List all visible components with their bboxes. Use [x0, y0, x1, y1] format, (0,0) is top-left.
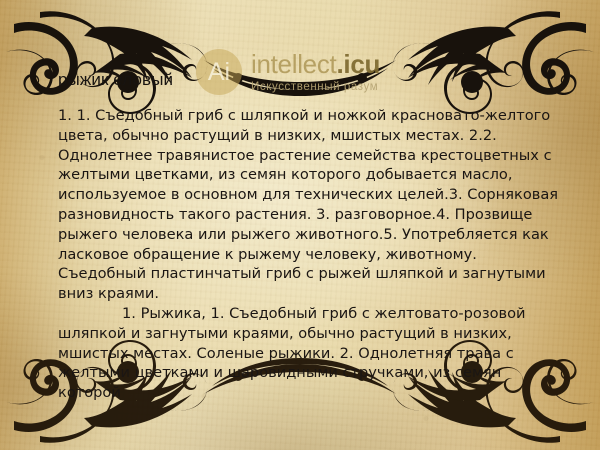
watermark-brand-prefix: intellect	[251, 49, 336, 79]
body-paragraph: 1. 1. Съедобный гриб с шляпкой и ножкой …	[58, 106, 564, 264]
watermark-tagline: Искусственный разум	[251, 82, 380, 94]
presentation-slide: Ai intellect.icu Искусственный разум рыж…	[0, 0, 600, 450]
body-paragraph: 1. Рыжика, 1. Съедобный гриб с желтовато…	[58, 304, 564, 403]
watermark-text: intellect.icu Искусственный разум	[251, 51, 380, 94]
watermark-brand-suffix: .icu	[336, 49, 380, 79]
page-title: рыжик еловый	[58, 70, 173, 90]
ai-badge-icon: Ai	[196, 49, 242, 95]
intellect-icu-watermark: Ai intellect.icu Искусственный разум	[196, 49, 380, 95]
slide-body-text: 1. 1. Съедобный гриб с шляпкой и ножкой …	[58, 106, 564, 403]
body-paragraph: Съедобный пластинчатый гриб с рыжей шляп…	[58, 264, 564, 304]
watermark-brand: intellect.icu	[251, 51, 380, 77]
